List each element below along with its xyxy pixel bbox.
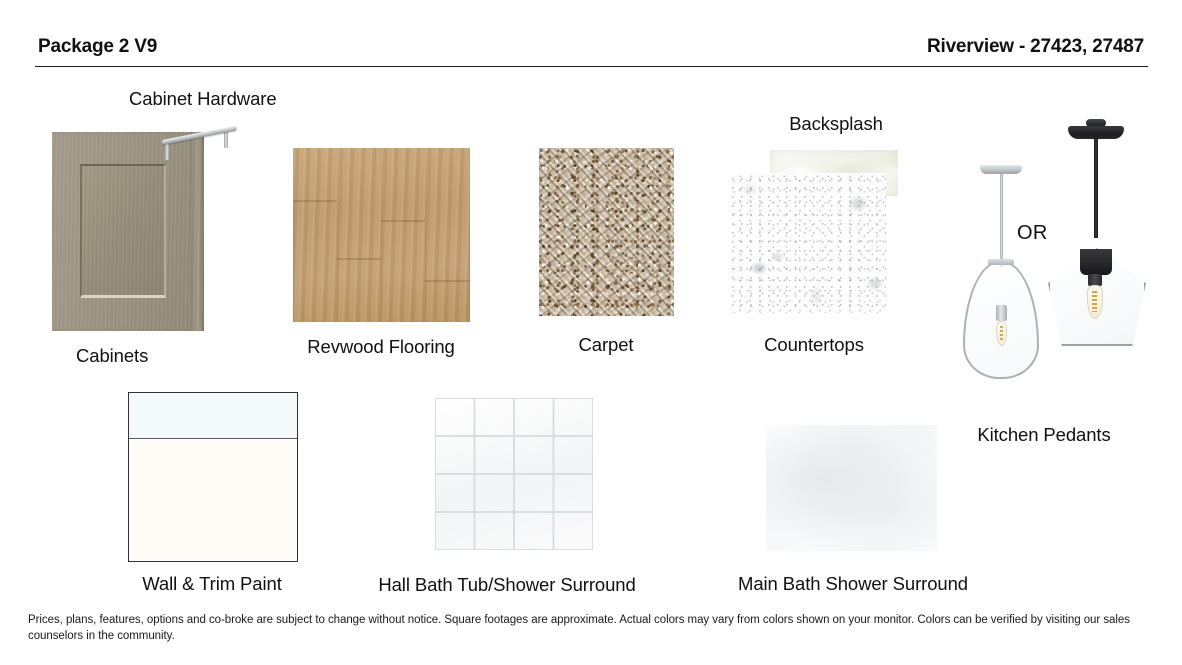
label-carpet: Carpet [579, 334, 634, 356]
bar-pull-post-right [224, 132, 228, 148]
pendant-socket-icon [996, 305, 1007, 321]
community-title: Riverview - 27423, 27487 [927, 36, 1144, 58]
plank-seam [381, 220, 425, 222]
swatch-pendant-black-option[interactable] [1042, 118, 1152, 348]
label-revwood-flooring: Revwood Flooring [307, 336, 455, 358]
pendant-filament-icon [1000, 326, 1003, 341]
pendant-filament-icon [1092, 291, 1097, 312]
paint-accent-color-chip [129, 393, 297, 439]
plank-seam [293, 200, 337, 202]
label-countertops: Countertops [764, 334, 864, 356]
swatch-carpet[interactable] [539, 148, 674, 316]
pendant-canopy-icon [980, 165, 1022, 174]
label-kitchen-pendants: Kitchen Pedants [977, 424, 1110, 446]
swatch-cabinet-hardware[interactable] [160, 120, 240, 162]
swatch-hall-bath-surround[interactable] [435, 398, 593, 550]
label-backsplash: Backsplash [789, 113, 883, 135]
countertop-speckle-texture [731, 173, 886, 313]
page-title: Package 2 V9 [38, 36, 157, 58]
pendant-cord-icon [1094, 138, 1098, 238]
label-cabinets: Cabinets [76, 345, 148, 367]
carpet-fiber-texture [539, 148, 674, 316]
design-package-board: Package 2 V9 Riverview - 27423, 27487 Ca… [0, 0, 1182, 665]
label-wall-trim-paint: Wall & Trim Paint [142, 573, 281, 595]
swatch-revwood-flooring[interactable] [293, 148, 470, 322]
bar-pull-post-left [165, 144, 169, 160]
swatch-pendant-nickel-option[interactable] [958, 165, 1044, 383]
swatch-countertops[interactable] [731, 173, 886, 313]
label-cabinet-hardware: Cabinet Hardware [129, 88, 277, 110]
pendant-downrod-icon [1000, 174, 1003, 267]
swatch-main-bath-surround[interactable] [766, 425, 937, 551]
label-main-bath-surround: Main Bath Shower Surround [738, 573, 968, 595]
board-header: Package 2 V9 Riverview - 27423, 27487 [0, 26, 1182, 68]
legal-disclaimer: Prices, plans, features, options and co-… [28, 612, 1153, 645]
pendant-shade-collar-icon [1080, 249, 1112, 275]
header-divider [35, 66, 1148, 67]
paint-main-color-chip [129, 440, 297, 561]
label-hall-bath-surround: Hall Bath Tub/Shower Surround [378, 574, 635, 596]
pendant-shade-neck-icon [988, 259, 1014, 265]
swatch-wall-trim-paint[interactable] [128, 392, 298, 562]
plank-seam [425, 280, 470, 282]
plank-seam [337, 258, 381, 260]
